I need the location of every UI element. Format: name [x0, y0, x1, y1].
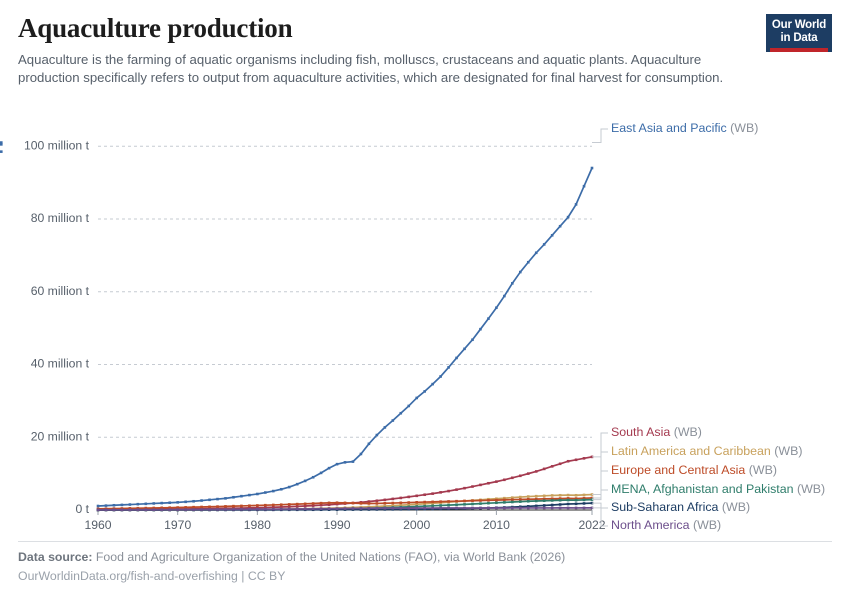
line-chart-svg[interactable]: 0 t20 million t40 million t60 million t8… — [0, 110, 850, 535]
series-point — [495, 501, 498, 504]
series-point — [463, 507, 466, 510]
series-point — [240, 508, 243, 511]
series-point — [415, 507, 418, 510]
series-point — [487, 317, 490, 320]
legend-entry[interactable]: Europe and Central Asia (WB) — [611, 463, 777, 477]
series-point — [439, 375, 442, 378]
series-point — [559, 225, 562, 228]
y-axis-tick-label: 100 million t — [24, 138, 90, 152]
series-point — [384, 507, 387, 510]
series-point — [272, 490, 275, 493]
series-point — [511, 498, 514, 501]
series-point — [312, 508, 315, 511]
series-point — [376, 499, 379, 502]
series-point — [129, 503, 132, 506]
series-point — [344, 507, 347, 510]
series-point — [200, 508, 203, 511]
series-point — [176, 501, 179, 504]
series-point — [280, 508, 283, 511]
series-point — [360, 453, 363, 456]
series-point — [487, 482, 490, 485]
series-point — [479, 499, 482, 502]
series-point — [376, 507, 379, 510]
series-point — [415, 397, 418, 400]
series-point — [431, 492, 434, 495]
series-point — [145, 503, 148, 506]
series-point — [575, 499, 578, 502]
series-point — [360, 507, 363, 510]
series-point — [423, 390, 426, 393]
series-point — [543, 495, 546, 498]
series-point — [567, 507, 570, 510]
series-point — [559, 494, 562, 497]
series-point — [208, 508, 211, 511]
series-point — [495, 480, 498, 483]
series-point — [392, 507, 395, 510]
series-point — [145, 508, 148, 511]
chart-footer: Data source: Food and Agriculture Organi… — [18, 548, 832, 586]
series-point — [447, 490, 450, 493]
series-point — [431, 505, 434, 508]
series-point — [288, 503, 291, 506]
series-point — [487, 507, 490, 510]
series-point — [527, 507, 530, 510]
series-point — [113, 509, 116, 512]
owid-logo-line2: in Data — [770, 32, 828, 45]
series-point — [320, 502, 323, 505]
series-point — [479, 484, 482, 487]
series-point — [168, 508, 171, 511]
legend-leader-line — [592, 433, 608, 457]
series-point — [384, 499, 387, 502]
series-point — [463, 487, 466, 490]
series-point — [184, 501, 187, 504]
series-point — [423, 501, 426, 504]
series-point — [551, 465, 554, 468]
series-point — [583, 494, 586, 497]
y-axis-tick-label: 80 million t — [31, 211, 90, 225]
series-point — [152, 508, 155, 511]
series-point — [559, 462, 562, 465]
series-point — [479, 502, 482, 505]
legend-entry[interactable]: South Asia (WB) — [611, 425, 702, 439]
series-point — [503, 479, 506, 482]
series-point — [551, 234, 554, 237]
series-point — [543, 468, 546, 471]
series-point — [519, 500, 522, 503]
series-point — [431, 501, 434, 504]
series-point — [447, 507, 450, 510]
legend-leader-line — [592, 503, 608, 508]
series-point — [392, 502, 395, 505]
series-point — [176, 508, 179, 511]
series-point — [431, 507, 434, 510]
series-point — [431, 383, 434, 386]
series-point — [447, 366, 450, 369]
series-point — [304, 480, 307, 483]
series-point — [455, 357, 458, 360]
series-point — [216, 498, 219, 501]
series-point — [463, 348, 466, 351]
series-point — [519, 271, 522, 274]
series-point — [304, 505, 307, 508]
series-point — [320, 507, 323, 510]
series-point — [336, 507, 339, 510]
series-point — [352, 502, 355, 505]
x-axis-tick-label: 1980 — [244, 518, 271, 532]
series-point — [543, 507, 546, 510]
series-point — [328, 467, 331, 470]
series-point — [296, 503, 299, 506]
series-point — [105, 504, 108, 507]
series-point — [527, 495, 530, 498]
series-point — [439, 500, 442, 503]
series-point — [240, 505, 243, 508]
x-axis-tick-label: 1970 — [164, 518, 191, 532]
series-point — [280, 488, 283, 491]
series-point — [407, 496, 410, 499]
series-point — [439, 507, 442, 510]
chart-page: Aquaculture production Aquaculture is th… — [0, 0, 850, 600]
series-point — [312, 476, 315, 479]
series-point — [503, 501, 506, 504]
series-point — [519, 475, 522, 478]
series-point — [575, 503, 578, 506]
series-point — [392, 498, 395, 501]
series-point — [121, 504, 124, 507]
series-point — [575, 458, 578, 461]
series-point — [567, 499, 570, 502]
series-point — [543, 499, 546, 502]
series-point — [368, 502, 371, 505]
series-point — [575, 494, 578, 497]
series-point — [511, 501, 514, 504]
series-point — [559, 503, 562, 506]
series-point — [583, 499, 586, 502]
series-point — [224, 497, 227, 500]
x-axis-tick-label: 2022 — [578, 518, 605, 532]
series-point — [567, 494, 570, 497]
series-point — [160, 502, 163, 505]
data-source-text: Food and Agriculture Organization of the… — [96, 550, 565, 564]
series-point — [192, 508, 195, 511]
series-point — [376, 502, 379, 505]
chart-subtitle: Aquaculture is the farming of aquatic or… — [18, 51, 743, 88]
series-point — [152, 502, 155, 505]
series-point — [575, 203, 578, 206]
series-point — [264, 504, 267, 507]
series-point — [527, 472, 530, 475]
series-point — [304, 503, 307, 506]
x-axis-tick-label: 2000 — [403, 518, 430, 532]
series-point — [495, 499, 498, 502]
series-point — [113, 504, 116, 507]
series-point — [455, 500, 458, 503]
series-point — [591, 167, 594, 170]
legend-leader-line — [592, 471, 608, 498]
series-point — [272, 508, 275, 511]
series-point — [352, 507, 355, 510]
x-axis-tick-label: 1990 — [323, 518, 350, 532]
series-point — [455, 503, 458, 506]
series-point — [447, 504, 450, 507]
series-point — [160, 508, 163, 511]
data-source-label: Data source: — [18, 550, 93, 564]
series-point — [527, 500, 530, 503]
series-point — [543, 504, 546, 507]
y-axis-tick-label: 20 million t — [31, 429, 90, 443]
series-point — [368, 442, 371, 445]
series-point — [376, 434, 379, 437]
series-point — [487, 502, 490, 505]
owid-logo[interactable]: Our World in Data — [766, 14, 832, 52]
owid-logo-line1: Our World — [770, 19, 828, 32]
series-point — [567, 216, 570, 219]
series-point — [463, 500, 466, 503]
series-point — [240, 495, 243, 498]
license-row[interactable]: OurWorldinData.org/fish-and-overfishing … — [18, 567, 832, 586]
series-point — [121, 509, 124, 512]
series-point — [344, 461, 347, 464]
series-point — [583, 507, 586, 510]
series-point — [511, 282, 514, 285]
series-point — [224, 505, 227, 508]
series-point — [415, 501, 418, 504]
series-point — [208, 505, 211, 508]
series-point — [527, 261, 530, 264]
series-point — [360, 502, 363, 505]
series-point — [551, 507, 554, 510]
series-point — [208, 499, 211, 502]
series-point — [232, 508, 235, 511]
series-point — [511, 507, 514, 510]
series-point — [328, 502, 331, 505]
series-point — [463, 503, 466, 506]
series-point — [447, 500, 450, 503]
series-point — [296, 505, 299, 508]
series-point — [184, 506, 187, 509]
series-point — [471, 485, 474, 488]
series-point — [168, 501, 171, 504]
series-point — [248, 504, 251, 507]
legend-entry[interactable]: Latin America and Caribbean (WB) — [611, 444, 802, 458]
series-point — [129, 508, 132, 511]
series-point — [312, 502, 315, 505]
series-point — [471, 503, 474, 506]
footer-divider — [18, 541, 832, 542]
series-point — [399, 507, 402, 510]
x-axis-tick-label: 1960 — [84, 518, 111, 532]
series-point — [97, 509, 100, 512]
series-point — [232, 496, 235, 499]
series-point — [567, 460, 570, 463]
series-point — [455, 507, 458, 510]
series-point — [384, 502, 387, 505]
legend-entry[interactable]: MENA, Afghanistan and Pakistan (WB) — [611, 482, 825, 496]
series-point — [392, 419, 395, 422]
series-point — [543, 243, 546, 246]
series-point — [192, 506, 195, 509]
series-point — [248, 508, 251, 511]
series-point — [105, 509, 108, 512]
series-point — [567, 503, 570, 506]
series-point — [256, 493, 259, 496]
series-point — [535, 251, 538, 254]
series-point — [248, 494, 251, 497]
series-point — [423, 507, 426, 510]
series-point — [184, 508, 187, 511]
series-point — [535, 470, 538, 473]
series-point — [256, 508, 259, 511]
series-point — [216, 505, 219, 508]
series-point — [415, 495, 418, 498]
series-point — [471, 499, 474, 502]
owid-logo-bar — [770, 48, 828, 52]
series-point — [224, 508, 227, 511]
series-point — [399, 412, 402, 415]
series-point — [368, 507, 371, 510]
series-point — [407, 405, 410, 408]
page-title: Aquaculture production — [18, 14, 832, 44]
series-point — [479, 328, 482, 331]
series-point — [288, 508, 291, 511]
series-point — [511, 477, 514, 480]
series-point — [495, 507, 498, 510]
series-point — [97, 505, 100, 508]
legend-entry[interactable]: North America (WB) — [611, 518, 721, 532]
series-point — [503, 499, 506, 502]
series-point — [137, 503, 140, 506]
series-point — [0, 150, 3, 153]
series-point — [264, 491, 267, 494]
series-point — [192, 500, 195, 503]
series-point — [200, 499, 203, 502]
series-point — [320, 472, 323, 475]
series-point — [471, 507, 474, 510]
series-point — [407, 507, 410, 510]
series-point — [344, 502, 347, 505]
series-point — [503, 507, 506, 510]
series-point — [399, 501, 402, 504]
series-point — [519, 507, 522, 510]
series-point — [304, 508, 307, 511]
series-point — [272, 504, 275, 507]
series-point — [407, 501, 410, 504]
series-point — [583, 185, 586, 188]
series-point — [0, 141, 3, 144]
series-point — [535, 500, 538, 503]
series-point — [535, 507, 538, 510]
series-point — [583, 502, 586, 505]
series-point — [384, 426, 387, 429]
series-point — [487, 499, 490, 502]
data-source-row: Data source: Food and Agriculture Organi… — [18, 548, 832, 567]
series-point — [551, 494, 554, 497]
chart-header: Aquaculture production Aquaculture is th… — [18, 14, 832, 110]
series-point — [280, 503, 283, 506]
series-point — [559, 499, 562, 502]
series-point — [583, 457, 586, 460]
series-point — [264, 508, 267, 511]
series-point — [519, 496, 522, 499]
series-point — [495, 306, 498, 309]
y-axis-tick-label: 40 million t — [31, 357, 90, 371]
series-point — [455, 488, 458, 491]
series-point — [471, 338, 474, 341]
series-point — [256, 504, 259, 507]
series-point — [439, 504, 442, 507]
series-point — [137, 508, 140, 511]
series-point — [575, 507, 578, 510]
series-point — [296, 508, 299, 511]
series-point — [503, 295, 506, 298]
series-point — [288, 486, 291, 489]
x-axis-tick-label: 2010 — [483, 518, 510, 532]
chart-plot-area[interactable]: 0 t20 million t40 million t60 million t8… — [0, 110, 850, 535]
legend-leader-line — [592, 452, 608, 495]
series-point — [352, 460, 355, 463]
y-axis-tick-label: 60 million t — [31, 284, 90, 298]
series-point — [423, 493, 426, 496]
series-point — [296, 483, 299, 486]
series-point — [232, 505, 235, 508]
series-point — [399, 497, 402, 500]
series-point — [535, 495, 538, 498]
legend-leader-line — [592, 129, 608, 143]
series-point — [336, 463, 339, 466]
series-point — [439, 491, 442, 494]
series-point — [551, 499, 554, 502]
y-axis-tick-label: 0 t — [75, 502, 89, 516]
series-point — [200, 506, 203, 509]
series-point — [216, 508, 219, 511]
series-point — [336, 501, 339, 504]
legend-entry[interactable]: East Asia and Pacific (WB) — [611, 121, 758, 135]
series-point — [328, 507, 331, 510]
series-point — [479, 507, 482, 510]
legend-entry[interactable]: Sub-Saharan Africa (WB) — [611, 500, 750, 514]
series-point — [559, 507, 562, 510]
series-point — [288, 505, 291, 508]
series-point — [551, 504, 554, 507]
